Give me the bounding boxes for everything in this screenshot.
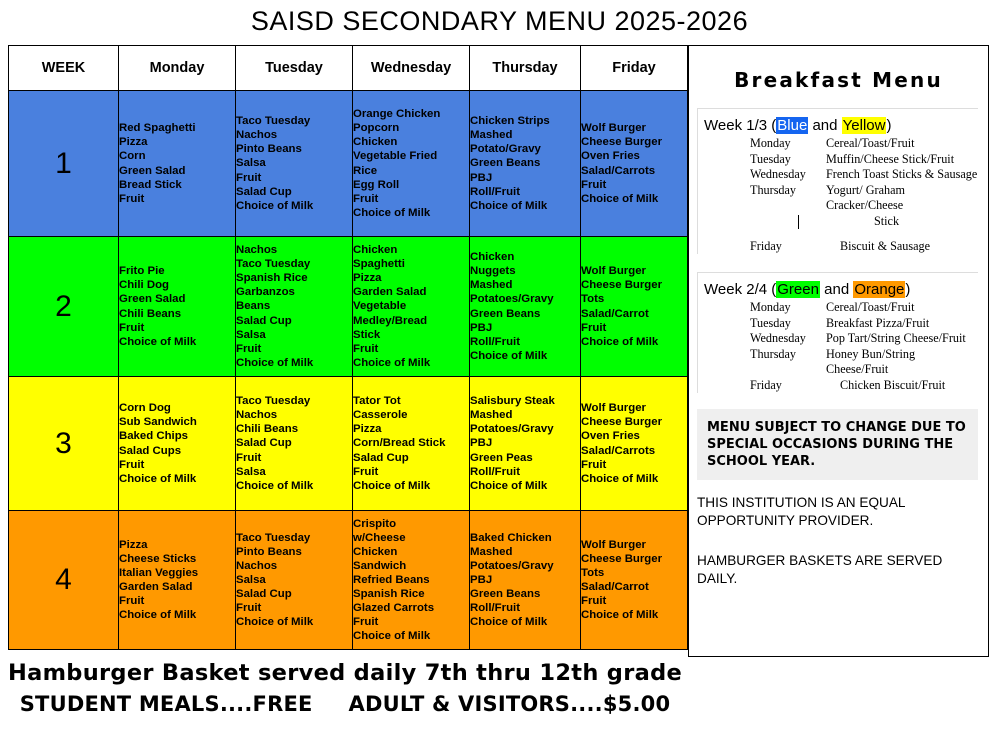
menu-item: Garden Salad — [353, 285, 469, 299]
menu-item: Choice of Milk — [470, 479, 580, 493]
breakfast-meal: Chicken Biscuit/Fruit — [826, 378, 945, 394]
breakfast-day: Thursday — [750, 183, 826, 214]
menu-item: Crispito — [353, 517, 469, 531]
menu-item: Pizza — [119, 538, 235, 552]
week-number: 1 — [9, 91, 119, 237]
menu-item: Taco Tuesday — [236, 114, 352, 128]
menu-item: Salsa — [236, 328, 352, 342]
notice-equal-opportunity: THIS INSTITUTION IS AN EQUAL OPPORTUNITY… — [697, 494, 978, 530]
footer-student-price: STUDENT MEALS....FREE — [20, 692, 313, 716]
menu-item: Bread Stick — [119, 178, 235, 192]
menu-item: Nachos — [236, 559, 352, 573]
breakfast-day: Monday — [750, 136, 826, 152]
menu-item: Medley/Bread — [353, 314, 469, 328]
menu-cell-week3-thursday: Salisbury SteakMashedPotatoes/GravyPBJGr… — [470, 377, 581, 511]
footer-pricing-line: STUDENT MEALS....FREEADULT & VISITORS...… — [0, 692, 690, 716]
menu-item: PBJ — [470, 436, 580, 450]
menu-item: Red Spaghetti — [119, 121, 235, 135]
menu-cell-week1-friday: Wolf BurgerCheese BurgerOven FriesSalad/… — [581, 91, 688, 237]
menu-cell-week4-tuesday: Taco TuesdayPinto BeansNachosSalsaSalad … — [236, 511, 353, 650]
breakfast-item: Friday Chicken Biscuit/Fruit — [698, 378, 978, 394]
breakfast-item: Wednesday French Toast Sticks & Sausage — [698, 167, 978, 183]
menu-item: Potatoes/Gravy — [470, 292, 580, 306]
menu-item: Vegetable Fried — [353, 149, 469, 163]
menu-item: Oven Fries — [581, 149, 687, 163]
menu-item: Chicken — [353, 135, 469, 149]
menu-item: Salsa — [236, 465, 352, 479]
breakfast-day: Thursday — [750, 347, 826, 378]
menu-item: Taco Tuesday — [236, 531, 352, 545]
menu-item: Tots — [581, 566, 687, 580]
menu-item: Salad Cup — [236, 436, 352, 450]
menu-item: Fruit — [581, 321, 687, 335]
menu-item: Fruit — [581, 594, 687, 608]
menu-cell-week2-wednesday: ChickenSpaghettiPizzaGarden SaladVegetab… — [353, 237, 470, 377]
breakfast-day: Tuesday — [750, 316, 826, 332]
menu-item: Fruit — [581, 178, 687, 192]
menu-item: Mashed — [470, 408, 580, 422]
menu-item: PBJ — [470, 171, 580, 185]
footer-adult-price: ADULT & VISITORS....$5.00 — [349, 692, 671, 716]
menu-item: Cheese Sticks — [119, 552, 235, 566]
menu-item: Choice of Milk — [119, 335, 235, 349]
footer: Hamburger Basket served daily 7th thru 1… — [0, 660, 690, 716]
heading-prefix: Week 2/4 ( — [704, 281, 776, 298]
breakfast-meal: Pop Tart/String Cheese/Fruit — [826, 331, 966, 347]
menu-item: Salsa — [236, 156, 352, 170]
menu-item: Sandwich — [353, 559, 469, 573]
menu-item: Choice of Milk — [581, 335, 687, 349]
menu-item: Nuggets — [470, 264, 580, 278]
menu-item: Choice of Milk — [236, 615, 352, 629]
color-tag-orange: Orange — [853, 281, 905, 298]
breakfast-meal: Cereal/Toast/Fruit — [826, 300, 915, 316]
breakfast-week-2-4-heading: Week 2/4 (Green and Orange) — [698, 281, 978, 298]
menu-item: Chicken — [353, 243, 469, 257]
table-row: 3 Corn DogSub SandwichBaked ChipsSalad C… — [9, 377, 688, 511]
color-tag-blue: Blue — [776, 117, 808, 134]
menu-item: Salsa — [236, 573, 352, 587]
menu-cell-week2-thursday: ChickenNuggetsMashedPotatoes/GravyGreen … — [470, 237, 581, 377]
menu-cell-week4-monday: PizzaCheese SticksItalian VeggiesGarden … — [119, 511, 236, 650]
menu-cell-week4-thursday: Baked ChickenMashedPotatoes/GravyPBJGree… — [470, 511, 581, 650]
menu-item: Salad Cups — [119, 444, 235, 458]
menu-item: Potatoes/Gravy — [470, 559, 580, 573]
breakfast-panel: Breakfast Menu Week 1/3 (Blue and Yellow… — [688, 45, 989, 657]
menu-item: Pizza — [353, 271, 469, 285]
column-header-thursday: Thursday — [470, 46, 581, 91]
table-row: 2 Frito PieChili DogGreen SaladChili Bea… — [9, 237, 688, 377]
breakfast-meal: French Toast Sticks & Sausage — [826, 167, 977, 183]
menu-item: Choice of Milk — [119, 608, 235, 622]
menu-item: Fruit — [236, 342, 352, 356]
breakfast-day: Monday — [750, 300, 826, 316]
menu-item: Salad/Carrots — [581, 444, 687, 458]
breakfast-block-week-1-3: Week 1/3 (Blue and Yellow) Monday Cereal… — [697, 108, 978, 254]
menu-item: Pinto Beans — [236, 142, 352, 156]
table-row: 1 Red SpaghettiPizzaCornGreen SaladBread… — [9, 91, 688, 237]
menu-cell-week1-monday: Red SpaghettiPizzaCornGreen SaladBread S… — [119, 91, 236, 237]
menu-item: Choice of Milk — [353, 206, 469, 220]
menu-item: Italian Veggies — [119, 566, 235, 580]
footer-hamburger-basket-line: Hamburger Basket served daily 7th thru 1… — [0, 660, 690, 686]
breakfast-menu-title: Breakfast Menu — [689, 68, 988, 92]
week-number: 3 — [9, 377, 119, 511]
breakfast-item: Wednesday Pop Tart/String Cheese/Fruit — [698, 331, 978, 347]
menu-item: Spaghetti — [353, 257, 469, 271]
breakfast-item: Friday Biscuit & Sausage — [698, 239, 978, 255]
heading-suffix: ) — [886, 117, 891, 134]
notice-menu-subject-to-change: MENU SUBJECT TO CHANGE DUE TO SPECIAL OC… — [697, 409, 978, 480]
menu-item: Tots — [581, 292, 687, 306]
menu-item: Pizza — [353, 422, 469, 436]
menu-cell-week2-tuesday: NachosTaco TuesdaySpanish RiceGarbanzosB… — [236, 237, 353, 377]
menu-item: Fruit — [236, 601, 352, 615]
menu-item: Tator Tot — [353, 394, 469, 408]
menu-cell-week2-friday: Wolf BurgerCheese BurgerTotsSalad/Carrot… — [581, 237, 688, 377]
menu-item: Choice of Milk — [581, 192, 687, 206]
column-header-monday: Monday — [119, 46, 236, 91]
menu-item: Choice of Milk — [236, 199, 352, 213]
menu-item: PBJ — [470, 573, 580, 587]
menu-item: Baked Chips — [119, 429, 235, 443]
color-tag-yellow: Yellow — [842, 117, 887, 134]
menu-item: Salad Cup — [236, 185, 352, 199]
menu-item: Nachos — [236, 128, 352, 142]
menu-item: Stick — [353, 328, 469, 342]
menu-item: Chili Beans — [236, 422, 352, 436]
menu-cell-week2-monday: Frito PieChili DogGreen SaladChili Beans… — [119, 237, 236, 377]
breakfast-meal: Breakfast Pizza/Fruit — [826, 316, 929, 332]
menu-item: Salad Cup — [236, 587, 352, 601]
menu-item: Choice of Milk — [470, 615, 580, 629]
menu-item: Green Beans — [470, 156, 580, 170]
breakfast-meal-continuation-text: Stick — [874, 214, 899, 230]
breakfast-meal: Honey Bun/String Cheese/Fruit — [826, 347, 978, 378]
menu-item: Spanish Rice — [353, 587, 469, 601]
menu-item: Cheese Burger — [581, 552, 687, 566]
menu-item: Fruit — [119, 321, 235, 335]
menu-cell-week3-friday: Wolf BurgerCheese BurgerOven FriesSalad/… — [581, 377, 688, 511]
menu-item: Refried Beans — [353, 573, 469, 587]
menu-item: Fruit — [236, 171, 352, 185]
menu-cell-week1-thursday: Chicken StripsMashedPotato/GravyGreen Be… — [470, 91, 581, 237]
menu-item: Fruit — [581, 458, 687, 472]
menu-item: Green Peas — [470, 451, 580, 465]
week-number: 4 — [9, 511, 119, 650]
menu-item: Roll/Fruit — [470, 465, 580, 479]
column-header-friday: Friday — [581, 46, 688, 91]
menu-cell-week4-friday: Wolf BurgerCheese BurgerTotsSalad/Carrot… — [581, 511, 688, 650]
menu-item: Fruit — [119, 192, 235, 206]
heading-mid: and — [808, 117, 841, 134]
menu-item: Choice of Milk — [236, 479, 352, 493]
menu-item: Choice of Milk — [353, 356, 469, 370]
menu-item: Green Salad — [119, 164, 235, 178]
menu-item: Salad/Carrot — [581, 307, 687, 321]
menu-item: Mashed — [470, 278, 580, 292]
menu-cell-week3-wednesday: Tator TotCasserolePizzaCorn/Bread StickS… — [353, 377, 470, 511]
breakfast-week-2-4-list: Monday Cereal/Toast/Fruit Tuesday Breakf… — [698, 300, 978, 393]
menu-item: Green Beans — [470, 587, 580, 601]
menu-item: Nachos — [236, 408, 352, 422]
breakfast-meal-continuation: Stick — [698, 214, 978, 230]
breakfast-item: Tuesday Breakfast Pizza/Fruit — [698, 316, 978, 332]
menu-item: Fruit — [353, 342, 469, 356]
breakfast-item: Thursday Yogurt/ Graham Cracker/Cheese — [698, 183, 978, 214]
menu-item: Cheese Burger — [581, 415, 687, 429]
menu-cell-week1-wednesday: Orange ChickenPopcornChickenVegetable Fr… — [353, 91, 470, 237]
menu-item: Chicken — [470, 250, 580, 264]
menu-item: Chicken — [353, 545, 469, 559]
menu-item: Casserole — [353, 408, 469, 422]
column-header-tuesday: Tuesday — [236, 46, 353, 91]
menu-item: Cheese Burger — [581, 278, 687, 292]
menu-item: Wolf Burger — [581, 264, 687, 278]
menu-item: Corn Dog — [119, 401, 235, 415]
menu-item: Frito Pie — [119, 264, 235, 278]
menu-item: Sub Sandwich — [119, 415, 235, 429]
menu-item: Glazed Carrots — [353, 601, 469, 615]
breakfast-day: Wednesday — [750, 331, 826, 347]
menu-item: Rice — [353, 164, 469, 178]
breakfast-item: Monday Cereal/Toast/Fruit — [698, 300, 978, 316]
menu-item: Choice of Milk — [581, 608, 687, 622]
color-tag-green: Green — [776, 281, 820, 298]
menu-item: Salisbury Steak — [470, 394, 580, 408]
menu-item: Fruit — [353, 615, 469, 629]
breakfast-meal: Cereal/Toast/Fruit — [826, 136, 915, 152]
menu-item: Popcorn — [353, 121, 469, 135]
page-title: SAISD SECONDARY MENU 2025-2026 — [0, 6, 999, 37]
breakfast-day: Friday — [750, 239, 826, 255]
menu-item: Chicken Strips — [470, 114, 580, 128]
menu-item: Choice of Milk — [119, 472, 235, 486]
heading-mid: and — [820, 281, 853, 298]
menu-item: Potatoes/Gravy — [470, 422, 580, 436]
column-header-wednesday: Wednesday — [353, 46, 470, 91]
menu-item: Orange Chicken — [353, 107, 469, 121]
menu-item: Vegetable — [353, 299, 469, 313]
menu-item: Fruit — [119, 458, 235, 472]
menu-item: Salad Cup — [236, 314, 352, 328]
menu-item: Pizza — [119, 135, 235, 149]
breakfast-week-1-3-list: Monday Cereal/Toast/Fruit Tuesday Muffin… — [698, 136, 978, 254]
menu-item: Fruit — [353, 465, 469, 479]
menu-cell-week3-tuesday: Taco TuesdayNachosChili BeansSalad CupFr… — [236, 377, 353, 511]
menu-item: Taco Tuesday — [236, 257, 352, 271]
menu-item: Pinto Beans — [236, 545, 352, 559]
menu-item: Mashed — [470, 545, 580, 559]
breakfast-day: Tuesday — [750, 152, 826, 168]
breakfast-meal: Yogurt/ Graham Cracker/Cheese — [826, 183, 978, 214]
menu-item: Salad Cup — [353, 451, 469, 465]
table-row: 4 PizzaCheese SticksItalian VeggiesGarde… — [9, 511, 688, 650]
menu-item: PBJ — [470, 321, 580, 335]
breakfast-item: Thursday Honey Bun/String Cheese/Fruit — [698, 347, 978, 378]
menu-item: Chili Dog — [119, 278, 235, 292]
menu-item: Corn/Bread Stick — [353, 436, 469, 450]
menu-item: Nachos — [236, 243, 352, 257]
menu-item: Garbanzos — [236, 285, 352, 299]
menu-item: Wolf Burger — [581, 401, 687, 415]
menu-item: Choice of Milk — [353, 629, 469, 643]
menu-item: Roll/Fruit — [470, 601, 580, 615]
menu-item: Salad/Carrot — [581, 580, 687, 594]
menu-item: Egg Roll — [353, 178, 469, 192]
menu-item: Roll/Fruit — [470, 185, 580, 199]
menu-item: Taco Tuesday — [236, 394, 352, 408]
menu-item: Mashed — [470, 128, 580, 142]
menu-item: Wolf Burger — [581, 121, 687, 135]
menu-item: Beans — [236, 299, 352, 313]
menu-item: Potato/Gravy — [470, 142, 580, 156]
menu-item: Choice of Milk — [470, 199, 580, 213]
menu-item: Fruit — [119, 594, 235, 608]
menu-item: Fruit — [353, 192, 469, 206]
heading-suffix: ) — [905, 281, 910, 298]
menu-item: Fruit — [236, 451, 352, 465]
table-header-row: WEEK Monday Tuesday Wednesday Thursday F… — [9, 46, 688, 91]
menu-item: Choice of Milk — [236, 356, 352, 370]
breakfast-item: Tuesday Muffin/Cheese Stick/Fruit — [698, 152, 978, 168]
menu-item: Chili Beans — [119, 307, 235, 321]
breakfast-item: Monday Cereal/Toast/Fruit — [698, 136, 978, 152]
breakfast-day: Friday — [750, 378, 826, 394]
menu-grid: WEEK Monday Tuesday Wednesday Thursday F… — [8, 45, 688, 650]
menu-item: Oven Fries — [581, 429, 687, 443]
breakfast-block-week-2-4: Week 2/4 (Green and Orange) Monday Cerea… — [697, 272, 978, 393]
menu-item: Cheese Burger — [581, 135, 687, 149]
breakfast-meal: Biscuit & Sausage — [826, 239, 930, 255]
column-header-week: WEEK — [9, 46, 119, 91]
breakfast-meal: Muffin/Cheese Stick/Fruit — [826, 152, 954, 168]
menu-item: Green Salad — [119, 292, 235, 306]
menu-cell-week1-tuesday: Taco TuesdayNachosPinto BeansSalsaFruitS… — [236, 91, 353, 237]
menu-item: Choice of Milk — [470, 349, 580, 363]
menu-item: Choice of Milk — [581, 472, 687, 486]
menu-item: Wolf Burger — [581, 538, 687, 552]
vertical-bar-divider — [798, 215, 799, 229]
menu-item: w/Cheese — [353, 531, 469, 545]
notice-hamburger-baskets: HAMBURGER BASKETS ARE SERVED DAILY. — [697, 552, 978, 588]
menu-item: Salad/Carrots — [581, 164, 687, 178]
menu-item: Baked Chicken — [470, 531, 580, 545]
menu-item: Green Beans — [470, 307, 580, 321]
menu-cell-week4-wednesday: Crispitow/CheeseChickenSandwichRefried B… — [353, 511, 470, 650]
breakfast-day: Wednesday — [750, 167, 826, 183]
menu-item: Roll/Fruit — [470, 335, 580, 349]
menu-item: Choice of Milk — [353, 479, 469, 493]
week-number: 2 — [9, 237, 119, 377]
menu-item: Spanish Rice — [236, 271, 352, 285]
heading-prefix: Week 1/3 ( — [704, 117, 776, 134]
menu-item: Corn — [119, 149, 235, 163]
breakfast-week-1-3-heading: Week 1/3 (Blue and Yellow) — [698, 117, 978, 134]
menu-cell-week3-monday: Corn DogSub SandwichBaked ChipsSalad Cup… — [119, 377, 236, 511]
menu-item: Garden Salad — [119, 580, 235, 594]
